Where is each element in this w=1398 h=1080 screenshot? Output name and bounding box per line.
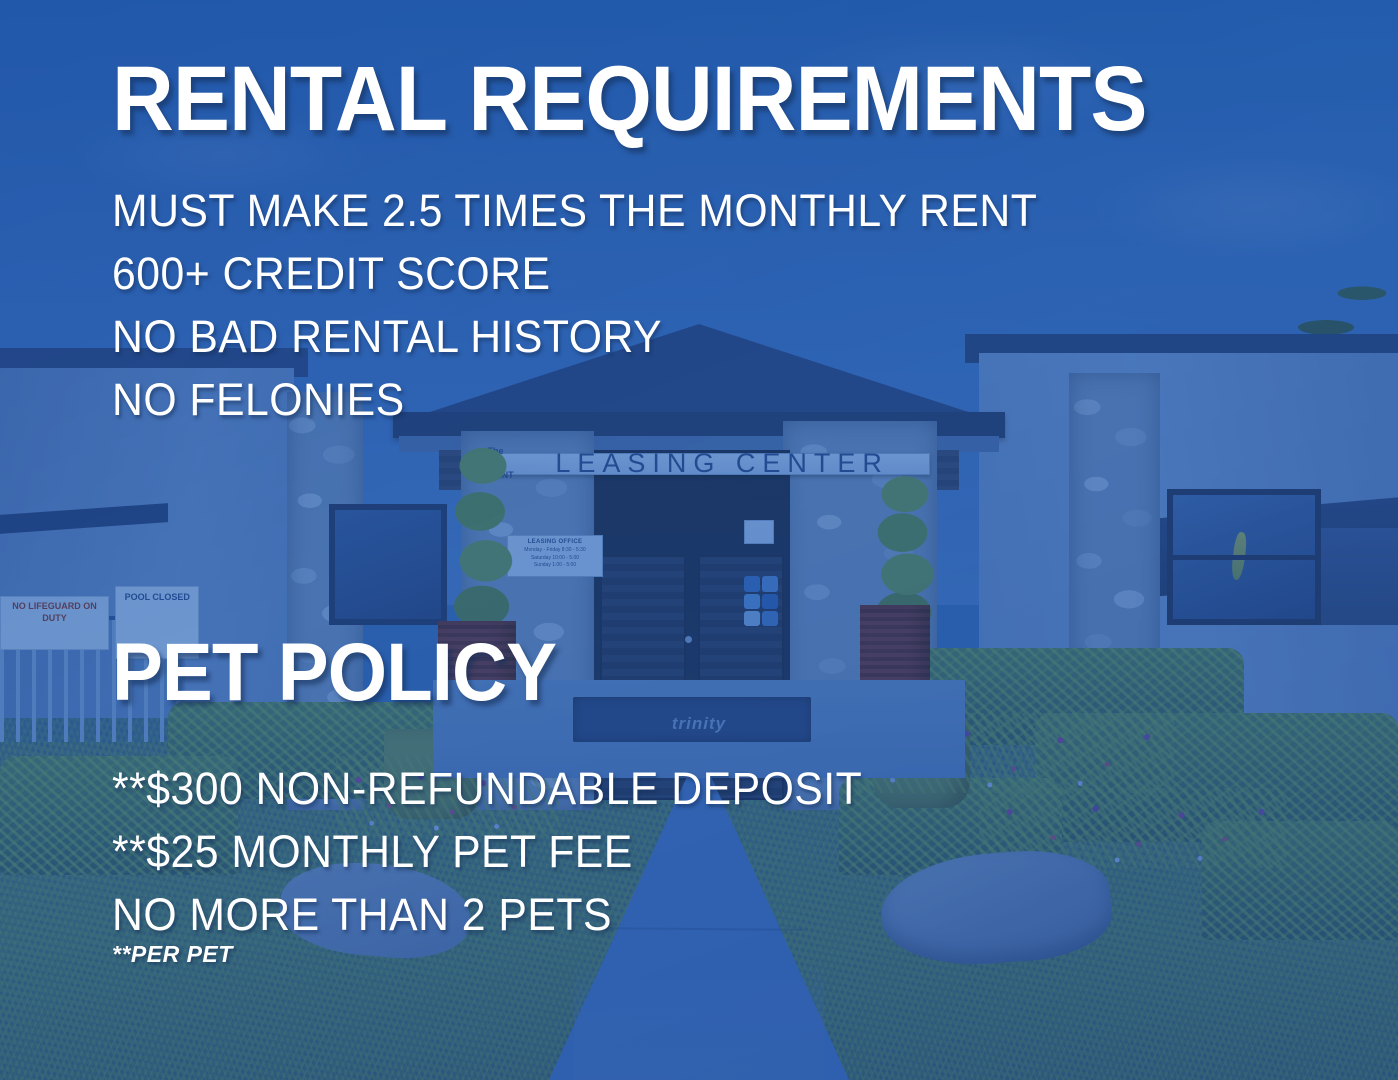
pet-line-deposit: **$300 NON-REFUNDABLE DEPOSIT (112, 763, 862, 815)
requirement-line-income: MUST MAKE 2.5 TIMES THE MONTHLY RENT (112, 185, 1037, 237)
pet-line-max-pets: NO MORE THAN 2 PETS (112, 889, 612, 941)
pet-line-monthly-fee: **$25 MONTHLY PET FEE (112, 826, 633, 878)
requirement-line-credit: 600+ CREDIT SCORE (112, 248, 550, 300)
flyer-text-layer: RENTAL REQUIREMENTS MUST MAKE 2.5 TIMES … (0, 0, 1398, 1080)
pet-policy-heading: PET POLICY (112, 626, 556, 720)
rental-requirements-heading: RENTAL REQUIREMENTS (112, 47, 1146, 152)
requirement-line-history: NO BAD RENTAL HISTORY (112, 311, 662, 363)
requirement-line-felonies: NO FELONIES (112, 374, 405, 426)
pet-policy-footnote: **PER PET (112, 941, 233, 968)
flyer-canvas: NO LIFEGUARD ON DUTY POOL CLOSED The ⓑ B… (0, 0, 1398, 1080)
